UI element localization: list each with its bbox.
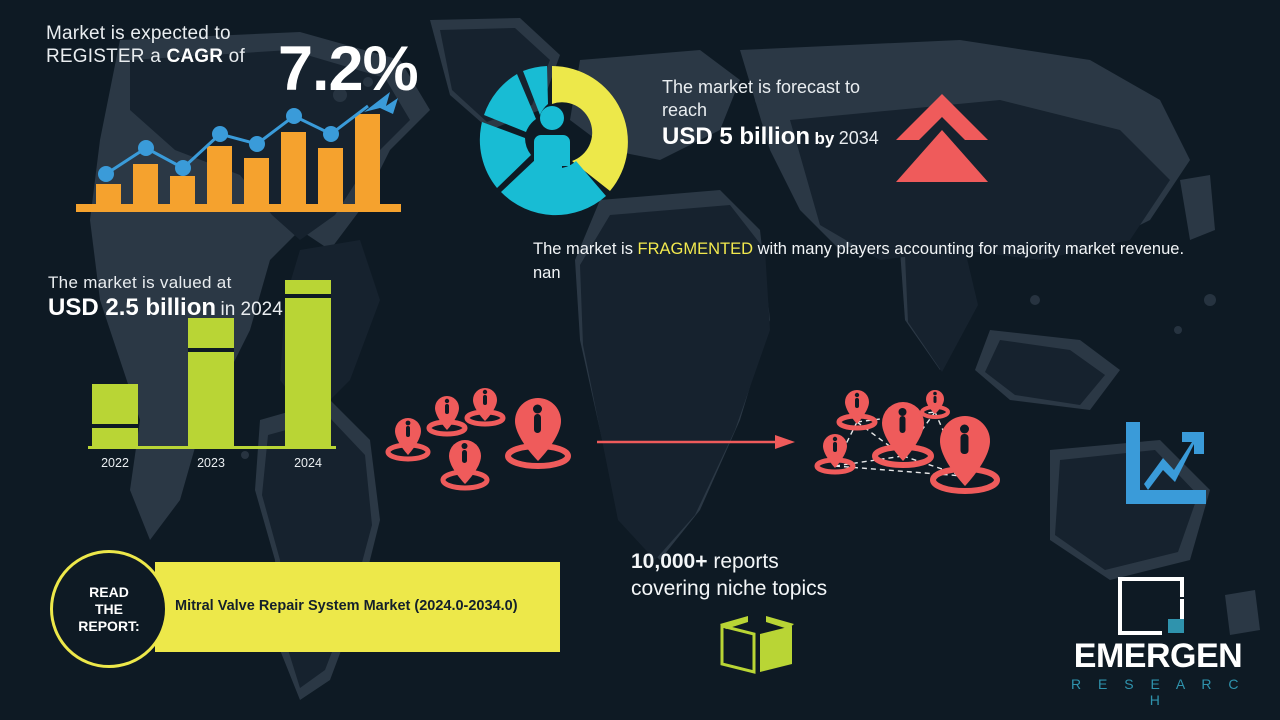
forecast-amount: USD 5 billion xyxy=(662,123,810,150)
read-label-line-2: THE xyxy=(95,601,123,617)
cagr-line2-suffix: of xyxy=(223,46,245,67)
bar-label-2022: 2022 xyxy=(85,456,145,470)
bar-label-2024: 2024 xyxy=(278,456,338,470)
read-label-line-1: READ xyxy=(89,584,129,600)
bar-2023 xyxy=(188,318,234,448)
fragmentation-keyword: FRAGMENTED xyxy=(638,240,754,258)
bar-chart-axis xyxy=(88,446,336,449)
reports-text-block: 10,000+ reports covering niche topics xyxy=(631,548,827,602)
logo-square-icon xyxy=(1116,575,1186,637)
double-up-chevron-icon xyxy=(895,92,990,184)
cagr-keyword: CAGR xyxy=(166,46,223,67)
network-pin-1 xyxy=(839,390,875,428)
map-pins-scattered-group xyxy=(385,388,580,493)
read-the-report-badge[interactable]: READTHEREPORT: xyxy=(50,550,168,668)
forecast-by-label: by xyxy=(814,129,834,148)
bar-2024 xyxy=(285,280,331,448)
network-pin-5 xyxy=(933,416,997,491)
market-share-donut-icon xyxy=(466,56,638,228)
cagr-text-block: Market is expected to REGISTER a CAGR of… xyxy=(46,22,476,68)
bar-2024-divider xyxy=(285,294,331,298)
fragmentation-text-block: The market is FRAGMENTED with many playe… xyxy=(533,237,1213,285)
report-title: Mitral Valve Repair System Market (2024.… xyxy=(175,598,555,614)
market-value-bar-chart: 2022 2023 2024 xyxy=(70,290,370,470)
logo-wordmark: EMERGEN xyxy=(1058,637,1258,676)
reports-line1-rest: reports xyxy=(708,550,779,573)
reports-line-1: 10,000+ reports xyxy=(631,548,827,575)
fragmentation-prefix: The market is xyxy=(533,240,638,258)
forecast-year: 2034 xyxy=(839,128,879,148)
growth-trend-chart xyxy=(68,86,413,221)
growth-baseline xyxy=(76,204,401,212)
read-label-line-3: REPORT: xyxy=(78,618,139,634)
growth-chart-icon xyxy=(1120,420,1208,508)
bar-2022 xyxy=(92,384,138,448)
read-the-report-label: READTHEREPORT: xyxy=(78,584,139,635)
bar-2022-divider xyxy=(92,424,138,428)
reports-line-2: covering niche topics xyxy=(631,575,827,602)
map-pin-2 xyxy=(429,396,465,434)
map-pins-network-group xyxy=(805,388,1015,498)
cagr-line2-prefix: REGISTER a xyxy=(46,46,166,67)
infographic-canvas: Market is expected to REGISTER a CAGR of… xyxy=(0,0,1280,720)
reports-count: 10,000+ xyxy=(631,550,708,573)
growth-arrowhead xyxy=(364,92,398,114)
book-page-left xyxy=(722,626,754,672)
map-pin-1 xyxy=(388,418,428,459)
logo-subtitle: R E S E A R C H xyxy=(1058,676,1258,708)
bar-2023-divider xyxy=(188,348,234,352)
growth-zigzag-arrow xyxy=(1144,432,1204,490)
emergen-research-logo: EMERGEN R E S E A R C H xyxy=(1058,575,1258,705)
map-pin-3 xyxy=(467,388,503,424)
right-arrow-icon xyxy=(597,432,797,452)
bar-label-2023: 2023 xyxy=(181,456,241,470)
network-pin-3 xyxy=(922,390,948,417)
map-pin-4 xyxy=(443,440,487,488)
book-page-right xyxy=(760,626,792,672)
open-book-icon xyxy=(718,612,796,674)
map-pin-5 xyxy=(508,398,568,466)
